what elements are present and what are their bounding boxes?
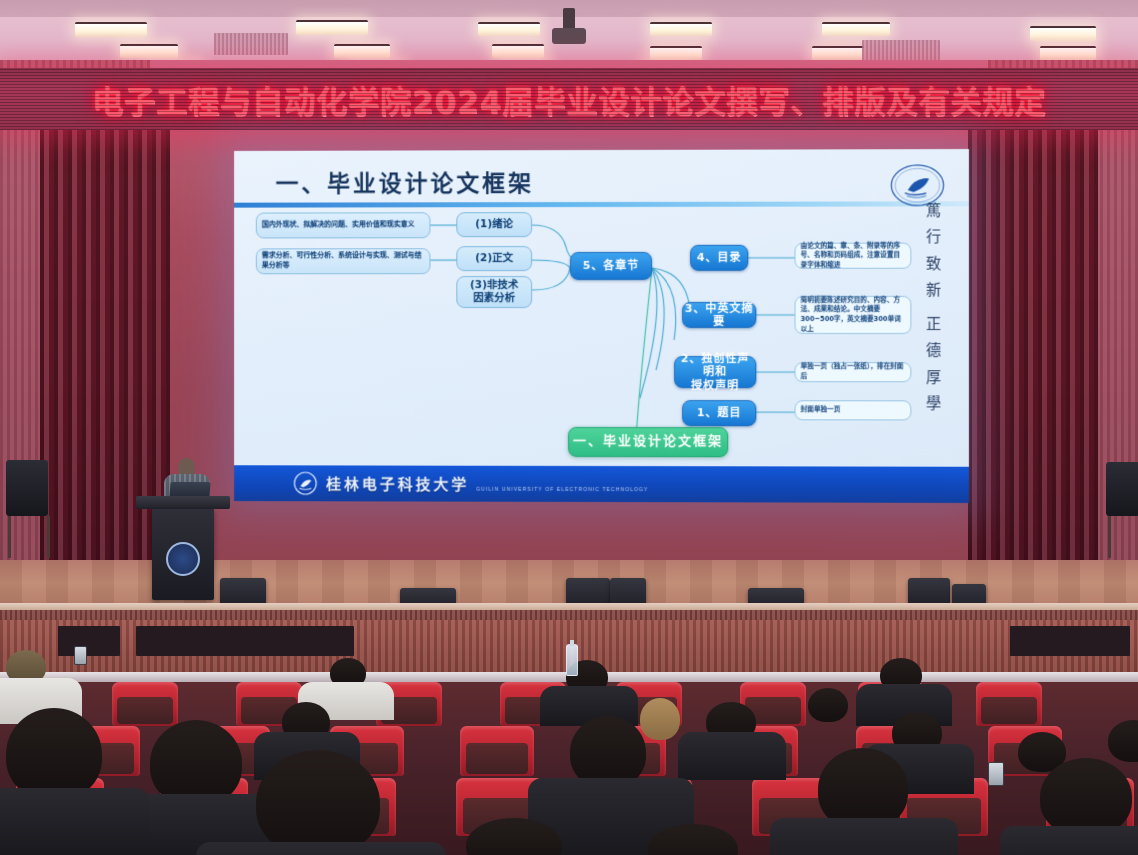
- calligraphy-char: 行: [926, 224, 941, 250]
- attendee-shoulders: [196, 842, 446, 855]
- attendee-head: [6, 708, 102, 800]
- audience-area: [0, 620, 1138, 855]
- speaker-stand-left: [8, 516, 50, 558]
- ceiling-vent: [862, 40, 940, 62]
- mindmap-node-contents: 4、目录: [690, 245, 748, 271]
- mindmap-node-title: 1、题目: [682, 400, 756, 426]
- slide-footer: 桂林电子科技大学 GUILIN UNIVERSITY OF ELECTRONIC…: [234, 465, 969, 503]
- mindmap-root-node: 一、毕业设计论文框架: [568, 427, 728, 457]
- attendee-shoulders: [770, 818, 958, 855]
- projection-screen: 一、毕业设计论文框架: [234, 149, 969, 503]
- title-divider: [234, 201, 969, 207]
- ceiling-light: [650, 46, 702, 60]
- calligraphy-char: 學: [926, 390, 941, 416]
- ceiling-light: [478, 22, 540, 36]
- speaker-stand-right: [1108, 516, 1138, 558]
- ceiling-light: [492, 44, 544, 58]
- mindmap-node-intro: (1)绪论: [456, 212, 532, 237]
- mindmap-note-title: 封面单独一页: [795, 400, 912, 420]
- loudspeaker-left: [6, 460, 48, 516]
- mindmap-node-declaration: 2、独创性声明和 授权声明: [674, 356, 756, 388]
- ceiling-light: [1030, 26, 1096, 41]
- mindmap-node-abstract: 3、中英文摘要: [682, 302, 756, 328]
- lectern: [152, 508, 214, 600]
- ceiling-light: [75, 22, 147, 37]
- calligraphy-char: 篤: [926, 197, 941, 223]
- water-bottle: [566, 644, 578, 676]
- attendee-head: [256, 750, 380, 855]
- ceiling-light: [120, 44, 178, 58]
- attendee-head: [640, 698, 680, 740]
- calligraphy-char: 致: [926, 250, 941, 276]
- attendee-head: [808, 688, 848, 722]
- led-banner: 电子工程与自动化学院2024届毕业设计论文撰写、排版及有关规定: [0, 68, 1138, 130]
- seat: [976, 682, 1042, 726]
- ceiling-light: [334, 44, 390, 58]
- attendee-shoulders: [678, 732, 786, 780]
- loudspeaker-right: [1106, 462, 1138, 516]
- ceiling-vent: [214, 33, 288, 55]
- seat: [112, 682, 178, 726]
- mindmap-node-nontech: (3)非技术 因素分析: [456, 276, 532, 308]
- ceiling-light: [812, 46, 864, 60]
- calligraphy-char: 德: [926, 337, 941, 363]
- led-banner-text: 电子工程与自动化学院2024届毕业设计论文撰写、排版及有关规定: [92, 77, 1046, 122]
- mindmap-note-declaration: 单独一页（独占一张纸），排在封面后: [795, 362, 912, 382]
- attendee-shoulders: [1000, 826, 1138, 855]
- footer-university-name-cn: 桂林电子科技大学: [326, 473, 469, 494]
- attendee-head: [1108, 720, 1138, 762]
- auditorium-photo: 电子工程与自动化学院2024届毕业设计论文撰写、排版及有关规定 一、毕业设计论文…: [0, 0, 1138, 855]
- ceiling-light: [822, 22, 890, 36]
- ceiling-projector: [563, 8, 575, 30]
- mindmap-note-abstract: 简明扼要陈述研究目的、内容、方法、成果和结论。中文摘要300~500字，英文摘要…: [795, 296, 912, 334]
- calligraphy-char: 正: [926, 311, 941, 337]
- mindmap-desc-body: 需求分析、可行性分析、系统设计与实现、测试与结果分析等: [256, 248, 431, 274]
- attendee-shoulders: [0, 788, 150, 855]
- mindmap-desc-intro: 国内外现状、拟解决的问题、实用价值和现实意义: [256, 212, 431, 238]
- stage-curtain-right: [968, 92, 1098, 572]
- wall-recess: [58, 626, 120, 656]
- slide-title: 一、毕业设计论文框架: [276, 164, 534, 198]
- mindmap-node-body: (2)正文: [456, 246, 532, 271]
- calligraphy-char: 新: [926, 276, 941, 302]
- calligraphy-motto: 篤 行 致 新 正 德 厚 學: [912, 197, 954, 416]
- smartphone: [988, 762, 1004, 786]
- ceiling-light: [296, 20, 368, 35]
- footer-university-name-en: GUILIN UNIVERSITY OF ELECTRONIC TECHNOLO…: [476, 487, 648, 493]
- lectern-top: [136, 496, 230, 509]
- guet-footer-emblem-icon: [293, 471, 317, 495]
- ceiling-light: [650, 22, 712, 36]
- smartphone: [74, 646, 87, 665]
- mindmap-node-chapters: 5、各章节: [570, 252, 652, 280]
- ceiling-light: [1040, 46, 1096, 60]
- seat: [460, 726, 534, 776]
- wall-recess: [136, 626, 354, 656]
- calligraphy-char: 厚: [926, 364, 941, 390]
- mindmap-note-contents: 由论文的篇、章、条、附录等的序号、名称和页码组成，注意设置目录字体和缩进: [795, 243, 912, 269]
- presentation-slide: 一、毕业设计论文框架: [234, 149, 969, 503]
- wall-recess: [1010, 626, 1130, 656]
- attendee-head: [1040, 758, 1132, 836]
- lectern-emblem-icon: [166, 542, 200, 576]
